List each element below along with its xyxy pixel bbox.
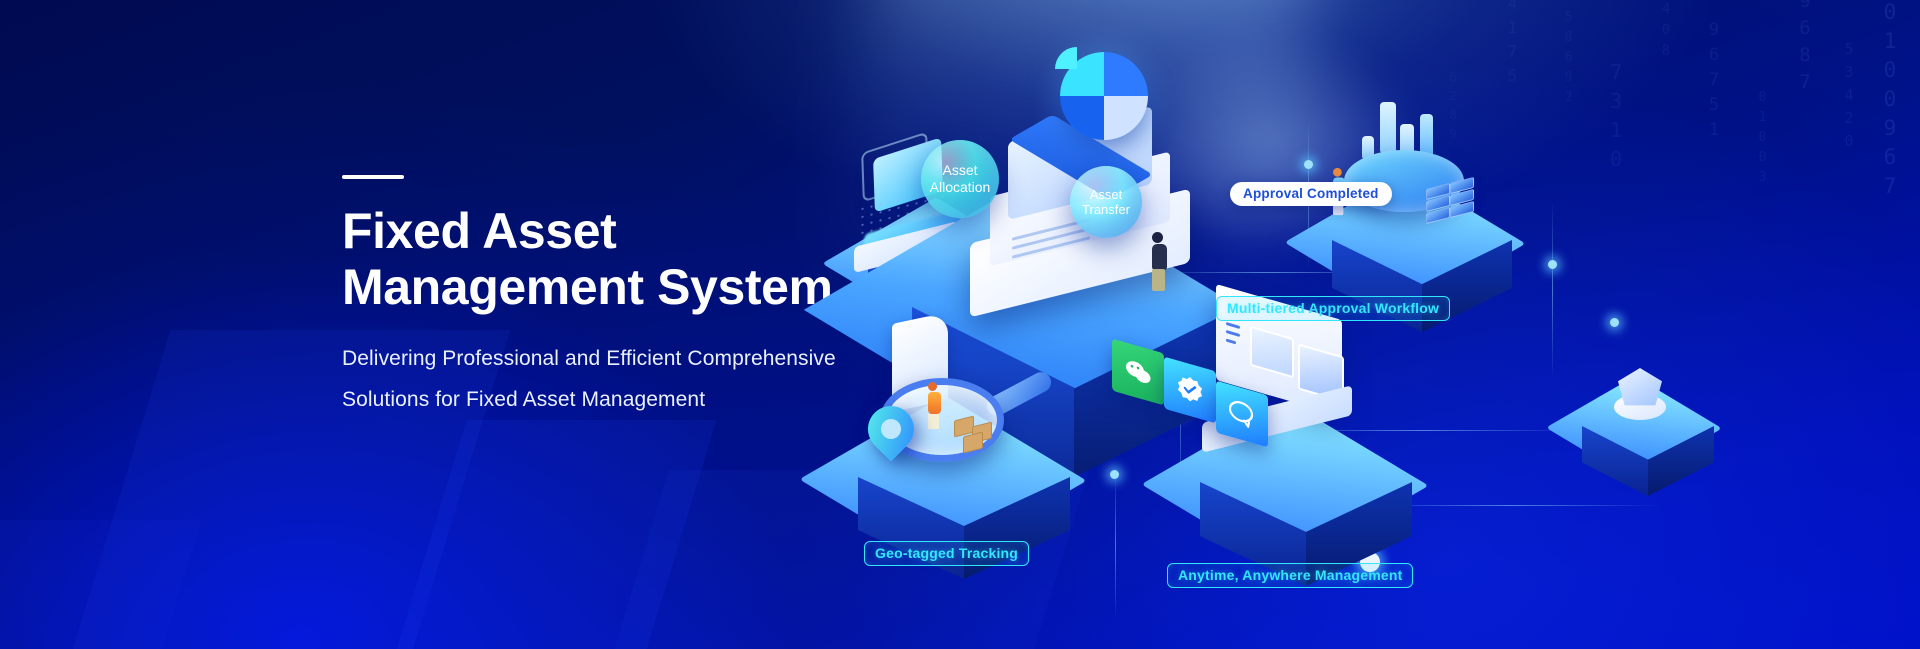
person-body [1152,244,1167,270]
pie-chart-icon [1060,52,1148,140]
connector-node [1110,470,1119,479]
connector-node [1548,260,1557,269]
bubble-label-line1: Asset [1090,187,1123,202]
tag-multi-tiered-approval-workflow[interactable]: Multi-tiered Approval Workflow [1216,296,1450,321]
bubble-label: Asset Allocation [930,162,991,195]
tag-geo-tagged-tracking[interactable]: Geo-tagged Tracking [864,541,1029,566]
bubble-label-line2: Transfer [1082,202,1130,217]
connector-wire [1115,470,1116,620]
bubble-label-line2: Allocation [930,179,991,195]
subtitle-line-1: Delivering Professional and Efficient Co… [342,347,836,370]
tag-anytime-anywhere-management[interactable]: Anytime, Anywhere Management [1167,563,1413,588]
worker-person [928,382,941,429]
isometric-illustration: Asset Allocation Asset Transfer Approval… [930,0,1920,649]
person-head [1333,168,1342,177]
person-body [928,392,941,414]
hero-banner: 0100967 53420 9687 01003 96751 2408 7310… [0,0,1920,649]
bubble-label: Asset Transfer [1082,187,1130,218]
accent-rule [342,175,404,179]
person-legs [1152,269,1165,291]
avatar-person [1152,232,1162,291]
connector-node [1610,318,1619,327]
title-line-1: Fixed Asset [342,203,616,259]
bubble-asset-allocation[interactable]: Asset Allocation [921,140,999,218]
person-legs [928,414,939,429]
person-head [1152,232,1163,243]
person-head [928,382,937,391]
bubble-label-line1: Asset [942,162,977,178]
tag-approval-completed[interactable]: Approval Completed [1230,182,1392,206]
bubble-asset-transfer[interactable]: Asset Transfer [1070,166,1142,238]
approval-bar [1380,102,1396,154]
connector-wire [1552,200,1553,380]
connector-node [1304,160,1313,169]
